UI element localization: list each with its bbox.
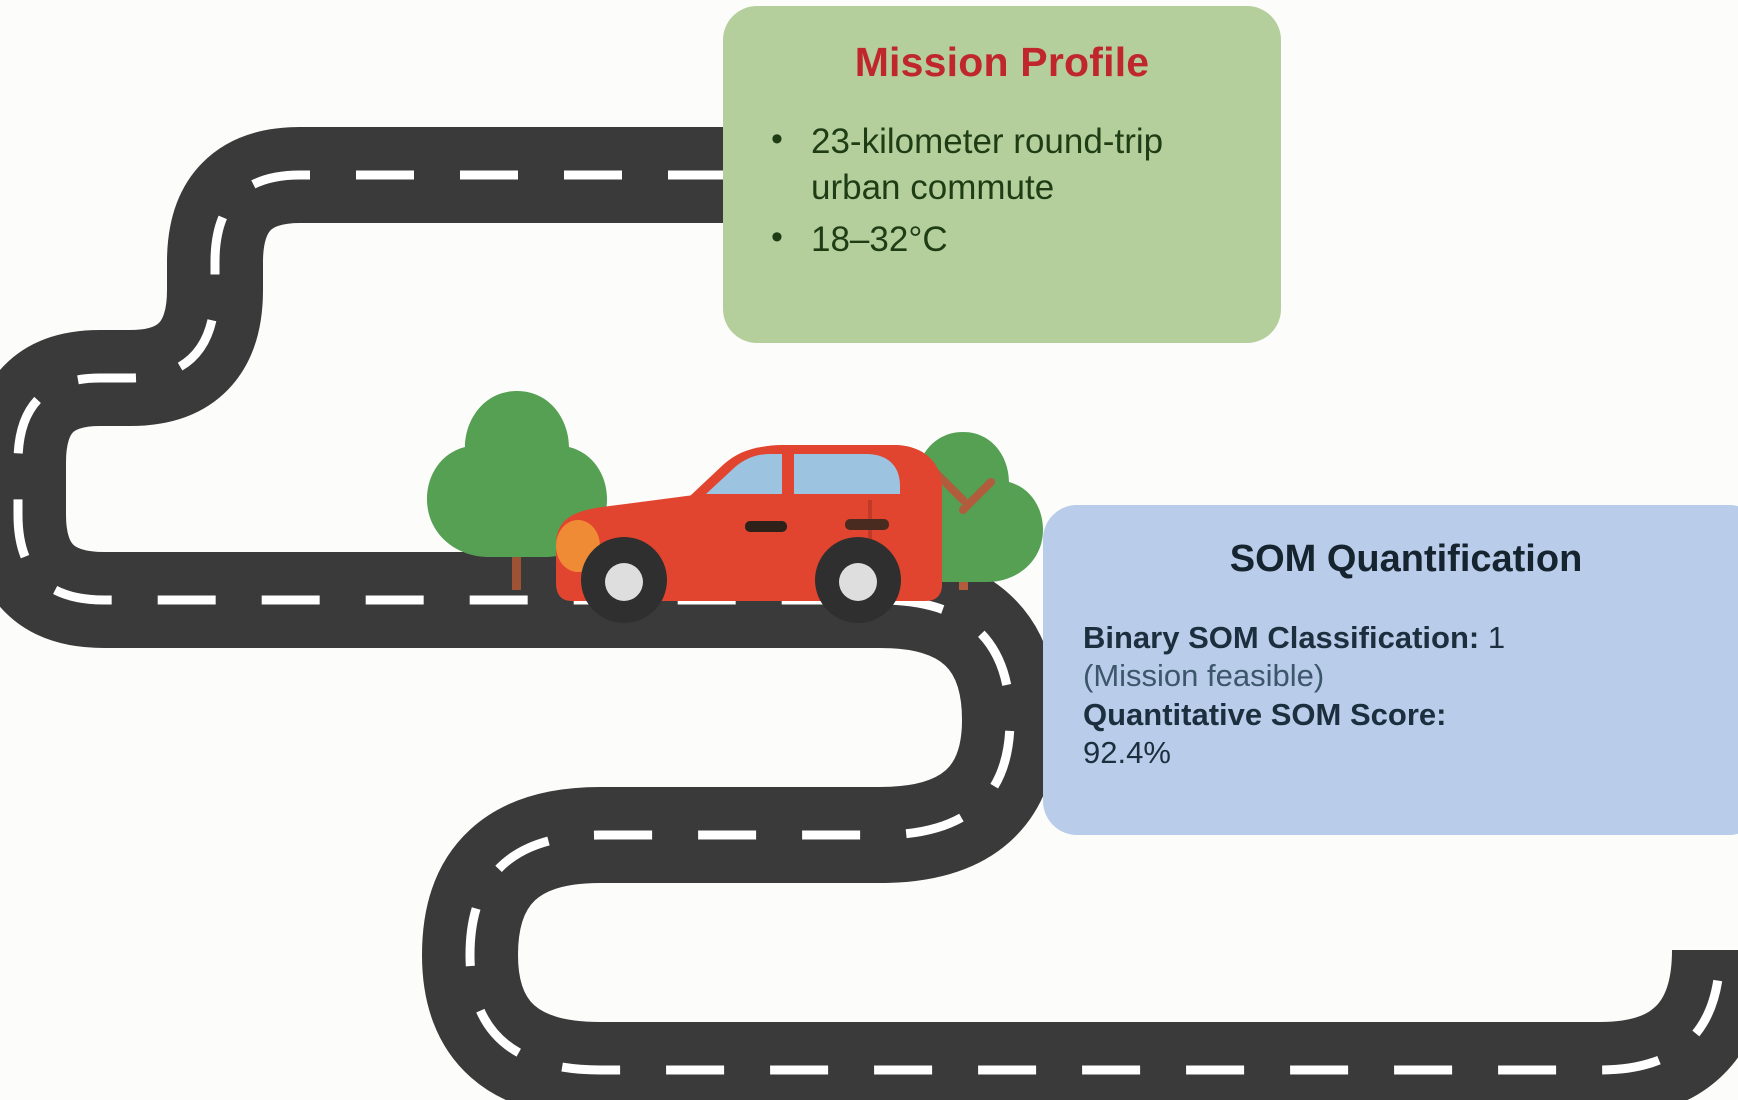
binary-som-classification-row: Binary SOM Classification: 1 <box>1083 619 1729 657</box>
som-quantification-callout: SOM Quantification Binary SOM Classifica… <box>1043 505 1738 835</box>
mission-profile-bullet-list: 23-kilometer round-trip urban commute 18… <box>753 119 1251 264</box>
quantitative-som-score-label-row: Quantitative SOM Score: <box>1083 696 1729 734</box>
quantitative-som-score-value: 92.4% <box>1083 734 1729 772</box>
binary-som-classification-note: (Mission feasible) <box>1083 657 1729 695</box>
red-sedan-car-icon <box>556 445 942 623</box>
illustration-canvas: Mission Profile 23-kilometer round-trip … <box>0 0 1738 1100</box>
binary-som-classification-value: 1 <box>1479 620 1505 655</box>
list-item: 23-kilometer round-trip urban commute <box>753 119 1251 211</box>
mission-profile-callout: Mission Profile 23-kilometer round-trip … <box>723 6 1281 343</box>
binary-som-classification-label: Binary SOM Classification: <box>1083 620 1479 655</box>
som-quantification-title: SOM Quantification <box>1083 539 1729 581</box>
list-item: 18–32°C <box>753 217 1251 263</box>
quantitative-som-score-label: Quantitative SOM Score: <box>1083 697 1446 732</box>
mission-profile-title: Mission Profile <box>753 40 1251 85</box>
